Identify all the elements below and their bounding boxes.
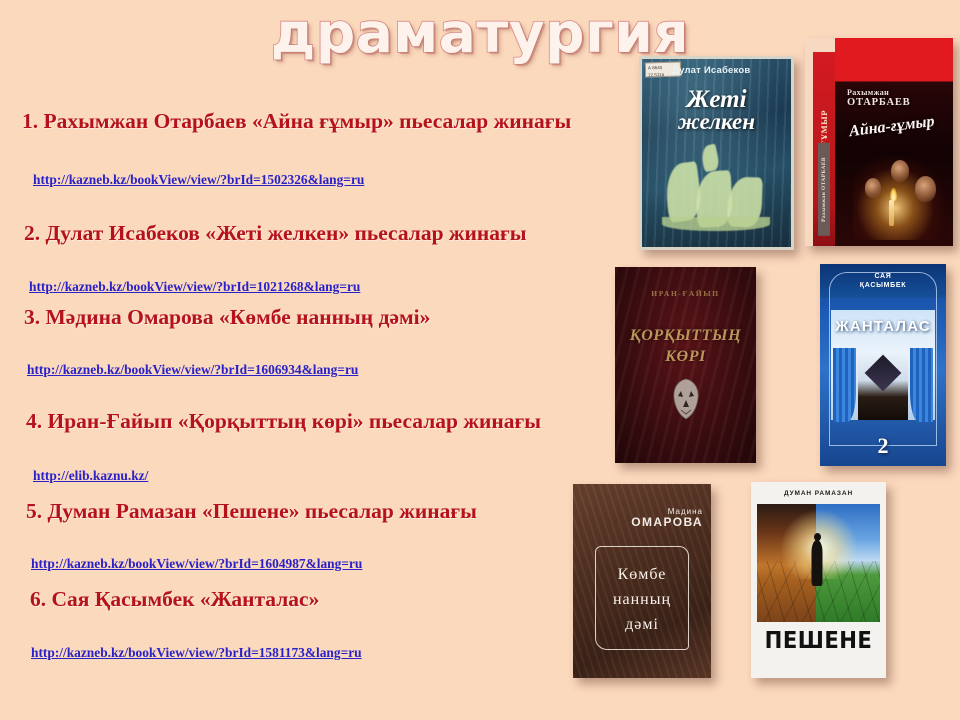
cover-author-last: ОТАРБАЕВ	[847, 98, 945, 108]
book-entry-link[interactable]: http://kazneb.kz/bookView/view/?brId=160…	[27, 362, 358, 378]
cover-author-last: ОМАРОВА	[573, 517, 703, 528]
cover-title-line1: Көмбе	[573, 562, 711, 587]
cover-author-line2: ҚАСЫМБЕК	[820, 282, 946, 291]
cover-front: Рахымжан ОТАРБАЕВ Айна-ғұмыр	[835, 38, 953, 246]
cover-author: ДУМАН РАМАЗАН	[751, 490, 886, 497]
person-face	[865, 178, 881, 198]
cover-title-line2: КӨРІ	[615, 346, 756, 367]
book-cover-zhantalas: САЯ ҚАСЫМБЕК ЖАНТАЛАС 2	[820, 264, 946, 466]
person-face	[891, 160, 909, 182]
book-entry-title: 4. Иран-Ғайып «Қорқыттың көрі» пьесалар …	[26, 408, 640, 434]
book-entry-title: 6. Сая Қасымбек «Жанталас»	[30, 586, 640, 612]
cover-title-line2: желкен	[642, 109, 791, 134]
book-entry-link[interactable]: http://kazneb.kz/bookView/view/?brId=158…	[31, 645, 362, 661]
cover-title-line3: дәмі	[573, 612, 711, 637]
cover-author: САЯ ҚАСЫМБЕК	[820, 273, 946, 290]
cover-title: ЖАНТАЛАС	[820, 318, 946, 335]
cover-title: Көмбе нанның дәмі	[573, 562, 711, 637]
flame-icon	[890, 188, 897, 201]
cover-author: Дулат Исабеков	[672, 65, 787, 76]
cover-title: Айна-ғұмыр	[848, 113, 935, 141]
cover-title-line2: нанның	[573, 587, 711, 612]
cover-author-first: Рахымжан	[847, 88, 889, 97]
person-face	[915, 176, 936, 202]
book-entry-title: 2. Дулат Исабеков «Жеті желкен» пьесалар…	[24, 220, 640, 246]
book-cover-korkyt: ИРАН-ҒАЙЫП ҚОРҚЫТТЫҢ КӨРІ	[615, 267, 756, 463]
book-cover-kombe-nannyn-dami: Мадина ОМАРОВА Көмбе нанның дәмі	[573, 484, 711, 678]
book-entry-link[interactable]: http://kazneb.kz/bookView/view/?brId=102…	[29, 279, 360, 295]
book-entry-link[interactable]: http://kazneb.kz/bookView/view/?brId=150…	[33, 172, 364, 188]
book-cover-jeti-zhelken: А 8640 12.511а Дулат Исабеков Жеті желке…	[639, 56, 794, 250]
wolf-skull-icon	[669, 377, 703, 421]
list-item: 2. Дулат Исабеков «Жеті желкен» пьесалар…	[0, 220, 640, 296]
cover-title-line1: ҚОРҚЫТТЫҢ	[615, 325, 756, 346]
list-item: 6. Сая Қасымбек «Жанталас» http://kazneb…	[0, 586, 640, 662]
book-cover-peshene: ДУМАН РАМАЗАН ПЕШЕНЕ	[751, 482, 886, 678]
cover-author: Мадина ОМАРОВА	[573, 506, 703, 528]
list-item: 4. Иран-Ғайып «Қорқыттың көрі» пьесалар …	[0, 408, 640, 485]
cover-author: Рахымжан ОТАРБАЕВ	[847, 88, 945, 108]
cover-spine: АЙНА-ҒҰМЫР Рахымжан ОТАРБАЕВ	[813, 52, 835, 246]
list-item: 1. Рахымжан Отарбаев «Айна ғұмыр» пьесал…	[0, 108, 640, 189]
walking-person-silhouette	[812, 540, 823, 586]
cover-author-line1: САЯ	[820, 273, 946, 282]
stage-curtain-left	[833, 348, 856, 422]
book-entry-title: 1. Рахымжан Отарбаев «Айна ғұмыр» пьесал…	[22, 108, 640, 134]
cover-title: Жеті желкен	[642, 87, 791, 134]
cover-photo	[757, 504, 880, 622]
cover-title: ПЕШЕНЕ	[756, 628, 880, 654]
book-entry-title: 5. Думан Рамазан «Пешене» пьесалар жинағ…	[26, 498, 640, 524]
cover-title: ҚОРҚЫТТЫҢ КӨРІ	[615, 325, 756, 367]
list-item: 5. Думан Рамазан «Пешене» пьесалар жинағ…	[0, 498, 640, 573]
book-entry-link[interactable]: http://elib.kaznu.kz/	[33, 468, 148, 484]
book-entry-title: 3. Мәдина Омарова «Көмбе нанның дәмі»	[24, 304, 640, 330]
list-item: 3. Мәдина Омарова «Көмбе нанның дәмі» ht…	[0, 304, 640, 379]
cover-volume-number: 2	[820, 435, 946, 457]
candle-icon	[889, 200, 894, 226]
stage-curtain-right	[910, 348, 933, 422]
presentation-slide: драматургия 1. Рахымжан Отарбаев «Айна ғ…	[0, 0, 960, 720]
book-entry-link[interactable]: http://kazneb.kz/bookView/view/?brId=160…	[31, 556, 362, 572]
book-cover-ayna-gumyr: АЙНА-ҒҰМЫР Рахымжан ОТАРБАЕВ Рахымжан ОТ…	[805, 38, 953, 246]
spine-author: Рахымжан ОТАРБАЕВ	[818, 143, 830, 236]
cover-author: ИРАН-ҒАЙЫП	[615, 289, 756, 298]
boat-hull	[662, 217, 770, 231]
book-list: 1. Рахымжан Отарбаев «Айна ғұмыр» пьесал…	[0, 96, 640, 666]
